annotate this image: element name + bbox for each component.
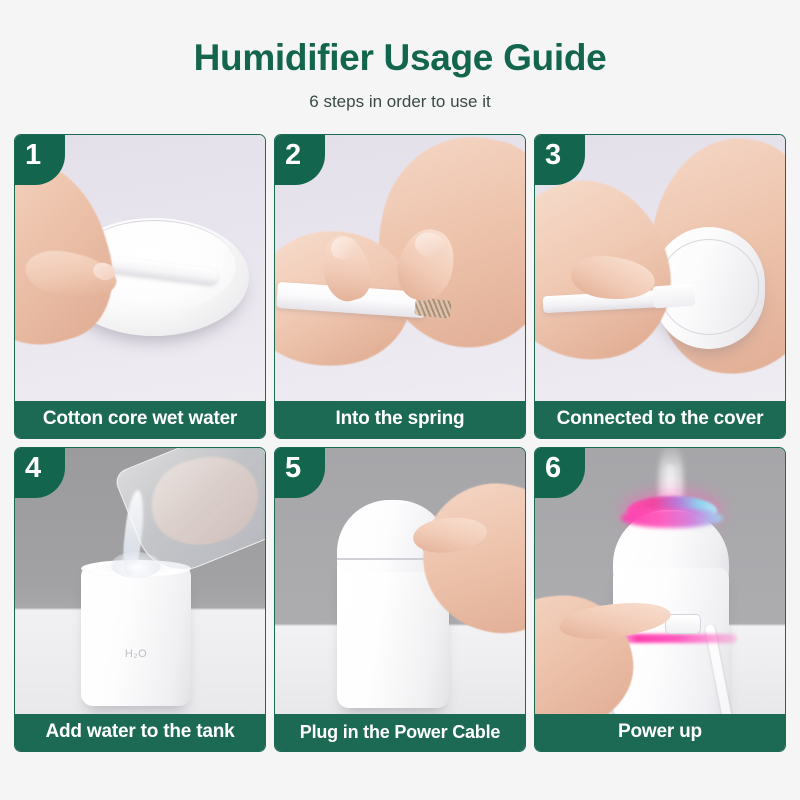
step-number: 1 xyxy=(25,141,41,170)
step-caption-5: Plug in the Power Cable xyxy=(275,714,525,751)
step-caption-6: Power up xyxy=(535,714,785,751)
step-number: 6 xyxy=(545,454,561,483)
led-ring xyxy=(621,508,723,528)
step-card-4[interactable]: H₂O 4 Add water to the tank xyxy=(14,447,266,752)
step-4-photo: H₂O 4 xyxy=(15,448,265,714)
page-title: Humidifier Usage Guide xyxy=(0,38,800,79)
step-number: 5 xyxy=(285,454,301,483)
wick-plug xyxy=(652,283,695,308)
step-3-photo: 3 xyxy=(535,135,785,401)
step-2-photo: 2 xyxy=(275,135,525,401)
tank-label: H₂O xyxy=(81,648,191,660)
step-6-photo: 6 xyxy=(535,448,785,714)
step-card-5[interactable]: 5 Plug in the Power Cable xyxy=(274,447,526,752)
header: Humidifier Usage Guide 6 steps in order … xyxy=(0,0,800,112)
step-caption-3: Connected to the cover xyxy=(535,401,785,438)
step-number: 4 xyxy=(25,454,41,483)
step-card-3[interactable]: 3 Connected to the cover xyxy=(534,134,786,439)
step-number: 2 xyxy=(285,141,301,170)
step-5-photo: 5 xyxy=(275,448,525,714)
step-card-2[interactable]: 2 Into the spring xyxy=(274,134,526,439)
step-card-1[interactable]: 1 Cotton core wet water xyxy=(14,134,266,439)
water-tank xyxy=(81,566,191,706)
step-1-photo: 1 xyxy=(15,135,265,401)
page-subtitle: 6 steps in order to use it xyxy=(0,92,800,112)
infographic-page: Humidifier Usage Guide 6 steps in order … xyxy=(0,0,800,800)
step-card-6[interactable]: 6 Power up xyxy=(534,447,786,752)
steps-grid: 1 Cotton core wet water 2 Into th xyxy=(0,134,800,752)
step-number: 3 xyxy=(545,141,561,170)
step-caption-4: Add water to the tank xyxy=(15,714,265,751)
step-caption-1: Cotton core wet water xyxy=(15,401,265,438)
step-caption-2: Into the spring xyxy=(275,401,525,438)
